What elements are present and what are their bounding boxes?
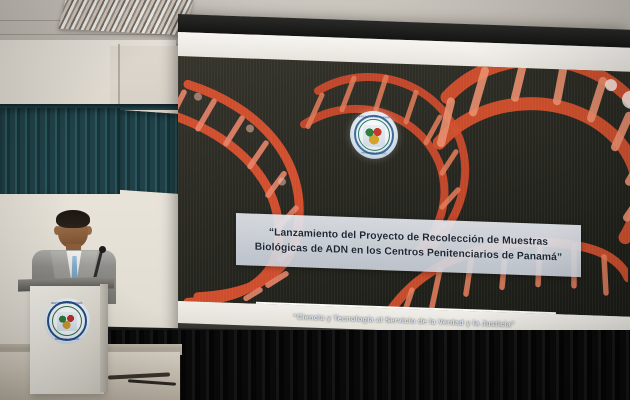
podium-seal: REPÚBLICA DE PANAMÁ MINISTERIO PÚBLICO <box>44 298 90 344</box>
seal-crest <box>363 124 385 147</box>
podium-seal-crest <box>57 312 77 331</box>
screen-scanlines <box>178 56 630 317</box>
window-blinds-left <box>0 108 120 194</box>
podium-side-edge <box>100 284 108 392</box>
presentation-photo-scene: REPÚBLICA DE PANAMÁ MINISTERIO PÚBLICO “… <box>0 0 630 400</box>
podium-seal-bottom-text: MINISTERIO PÚBLICO <box>44 339 90 341</box>
slide-tagline: “Ciencia y Tecnología al Servicio de la … <box>293 313 515 329</box>
dna-helix-left <box>178 73 368 310</box>
slide-institution-seal: REPÚBLICA DE PANAMÁ MINISTERIO PÚBLICO <box>350 110 398 160</box>
projection-screen: REPÚBLICA DE PANAMÁ MINISTERIO PÚBLICO “… <box>178 14 630 360</box>
seal-bottom-text: MINISTERIO PÚBLICO <box>350 151 398 156</box>
podium: REPÚBLICA DE PANAMÁ MINISTERIO PÚBLICO <box>30 286 104 394</box>
slide-title-plate: “Lanzamiento del Proyecto de Recolección… <box>236 213 581 277</box>
microphone-head-icon <box>99 246 106 253</box>
slide-surface: REPÚBLICA DE PANAMÁ MINISTERIO PÚBLICO “… <box>178 56 630 317</box>
window-blinds-right <box>120 110 182 194</box>
speaker-hair <box>56 210 90 228</box>
podium-seal-top-text: REPÚBLICA DE PANAMÁ <box>44 302 90 305</box>
